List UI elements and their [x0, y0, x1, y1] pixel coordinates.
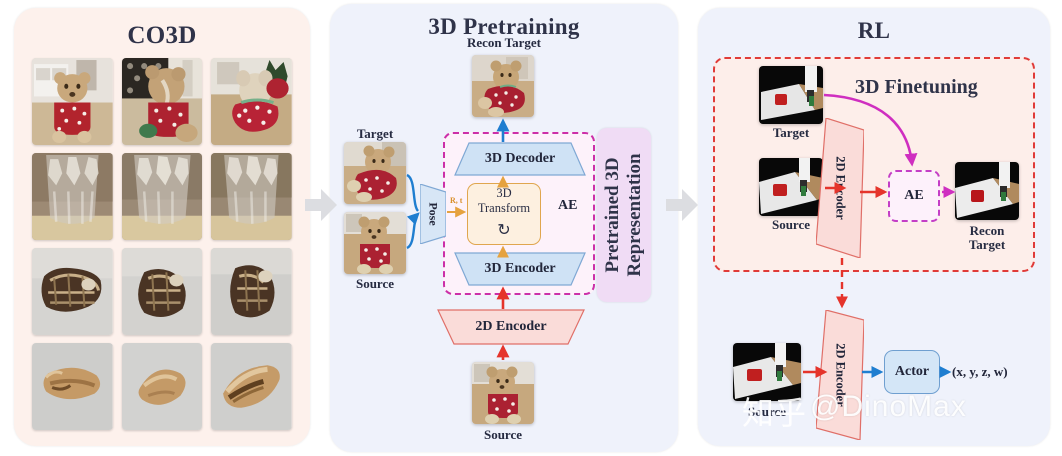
watermark-handle: @DinoMax	[810, 390, 967, 424]
thumb-vase-1	[32, 153, 113, 240]
block-ae-rl[interactable]: AE	[888, 170, 940, 222]
thumb-vase-3	[211, 153, 292, 240]
pretrained-3d-representation-card: Pretrained 3D Representation	[597, 128, 651, 302]
block-3d-transform-line2: Transform	[468, 201, 540, 216]
thumb-hotdog-3	[211, 343, 292, 430]
figure-root: CO3D	[0, 0, 1062, 456]
finetuning-title: 3D Finetuning	[855, 76, 978, 99]
label-source-pretrain-left: Source	[338, 277, 412, 291]
photo-target-pretrain	[344, 142, 406, 204]
ae-region-label: AE	[558, 198, 577, 214]
block-pose-label: Pose	[426, 202, 441, 225]
thumb-hotdog-2	[122, 343, 203, 430]
thumb-vase-2	[122, 153, 203, 240]
thumb-glove-3	[211, 248, 292, 335]
thumb-teddy-1	[32, 58, 113, 145]
block-actor-label: Actor	[895, 364, 929, 380]
block-pose[interactable]: Pose	[420, 184, 446, 244]
block-2d-encoder-rl-top-label: 2D Encoder	[833, 156, 848, 220]
page-title-rl: RL	[698, 18, 1050, 44]
label-recon-target-pretrain: Recon Target	[438, 36, 570, 50]
action-output-label: (x, y, z, w)	[952, 364, 1008, 380]
pretrained-line1: Pretrained 3D	[602, 157, 623, 272]
co3d-image-grid	[32, 58, 292, 430]
rotate-icon: ↻	[468, 220, 540, 240]
photo-source-pretrain-left	[344, 212, 406, 274]
photo-target-rl	[759, 66, 823, 124]
pose-output-label: R, t	[450, 196, 462, 205]
thumb-glove-1	[32, 248, 113, 335]
pretrained-3d-representation-text: Pretrained 3D Representation	[602, 153, 646, 276]
photo-recon-target-rl	[955, 162, 1019, 220]
label-target-pretrain: Target	[338, 127, 412, 141]
thumb-teddy-2	[122, 58, 203, 145]
pretrained-line2: Representation	[624, 153, 645, 276]
label-recon-target-rl: Recon Target	[946, 224, 1028, 252]
page-title-co3d: CO3D	[14, 22, 310, 50]
recon-line1: Recon	[970, 223, 1005, 238]
photo-source-rl-top	[759, 158, 823, 216]
thumb-teddy-3	[211, 58, 292, 145]
photo-source-pretrain-bottom	[472, 362, 534, 424]
block-2d-encoder-pretrain[interactable]: 2D Encoder	[438, 310, 584, 344]
block-2d-encoder-rl-top[interactable]: 2D Encoder	[816, 118, 864, 258]
block-actor[interactable]: Actor	[884, 350, 940, 394]
recon-line2: Target	[969, 237, 1005, 252]
block-3d-encoder[interactable]: 3D Encoder	[455, 253, 585, 285]
block-3d-decoder[interactable]: 3D Decoder	[455, 143, 585, 175]
watermark-cn: 知乎	[742, 388, 806, 434]
thumb-glove-2	[122, 248, 203, 335]
block-3d-transform-line1: 3D	[468, 186, 540, 201]
thumb-hotdog-1	[32, 343, 113, 430]
block-3d-transform[interactable]: 3D Transform ↻	[467, 183, 541, 245]
block-ae-rl-label: AE	[904, 188, 923, 204]
photo-recon-target-pretrain	[472, 55, 534, 117]
label-source-pretrain-bottom: Source	[440, 428, 566, 442]
